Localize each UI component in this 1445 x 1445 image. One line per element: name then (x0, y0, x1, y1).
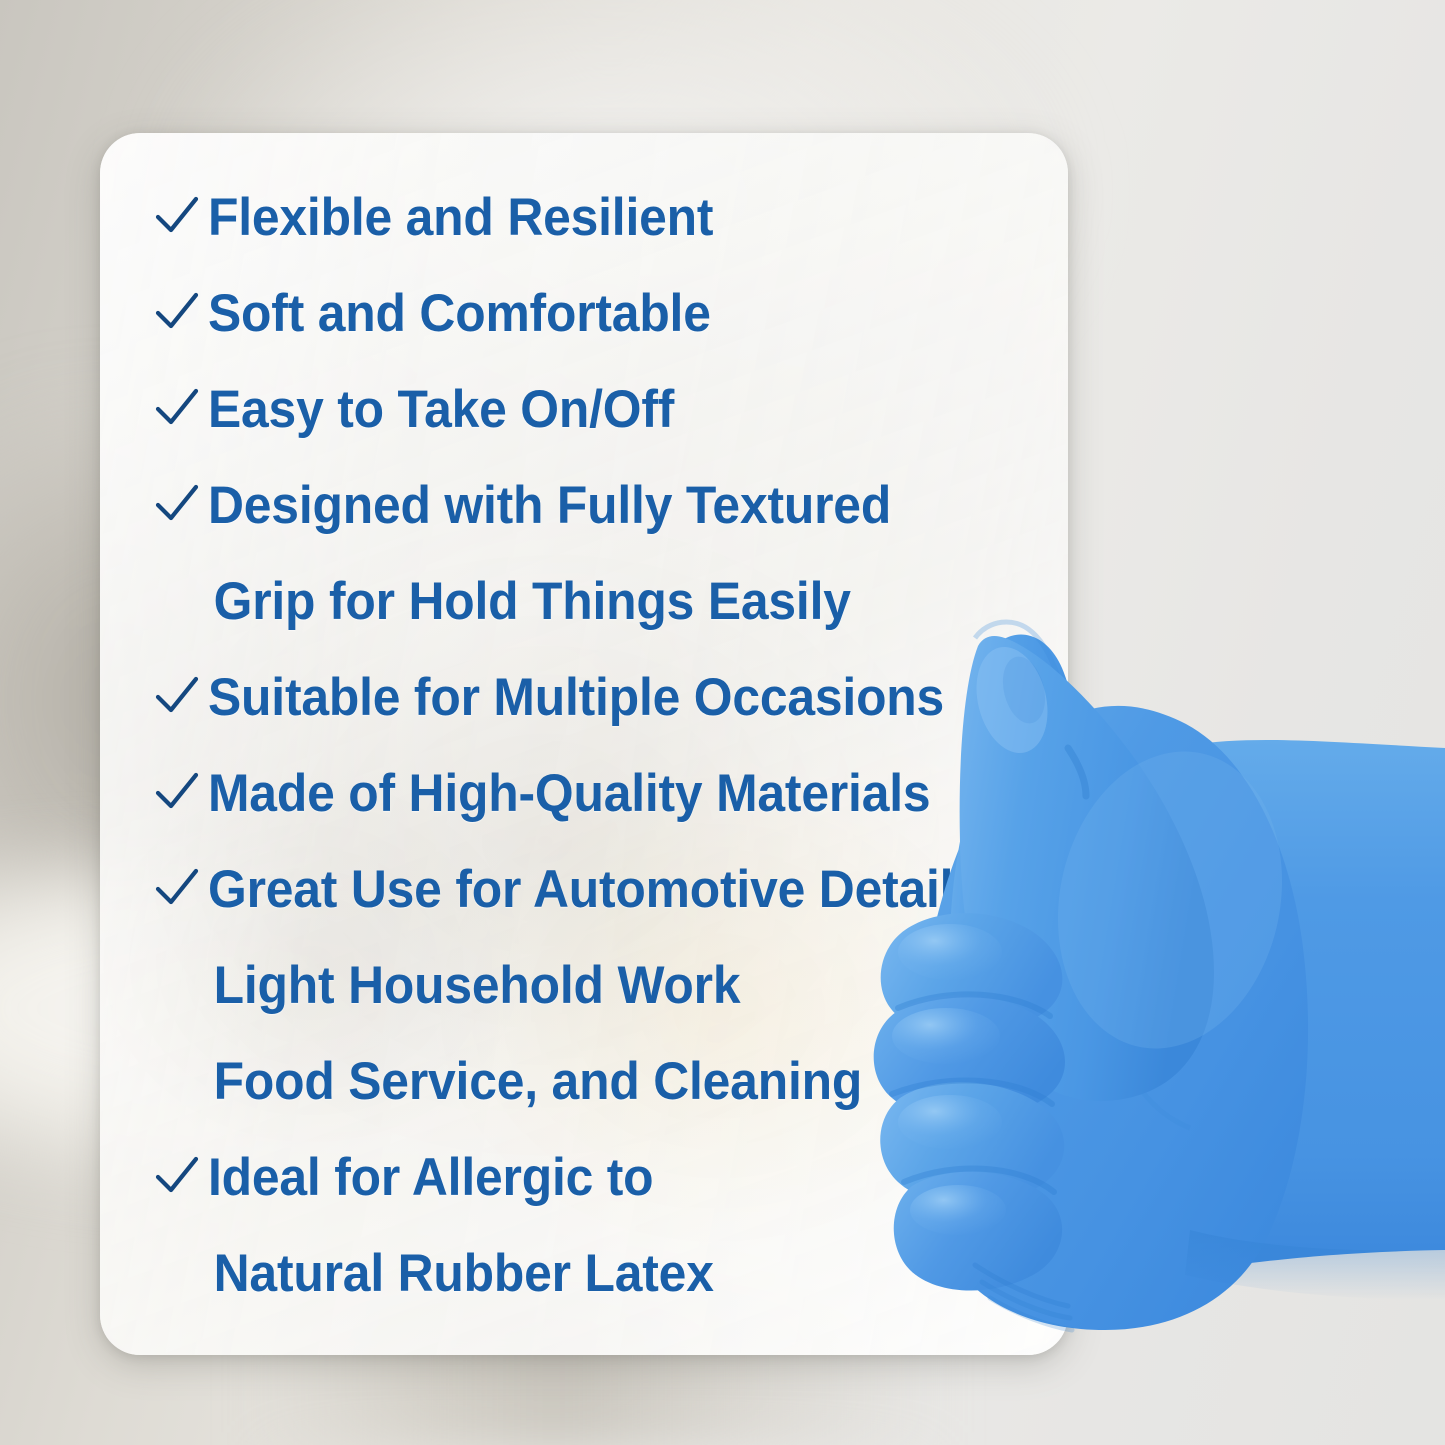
check-icon (146, 385, 208, 433)
check-icon (146, 865, 208, 913)
check-icon (146, 673, 208, 721)
feature-label: Soft and Comfortable (208, 287, 711, 340)
feature-item: Easy to Take On/Off (146, 361, 1068, 457)
feature-label: Food Service, and Cleaning (208, 1055, 862, 1108)
feature-label: Great Use for Automotive Detailing (208, 863, 1027, 916)
feature-item: Great Use for Automotive Detailing (146, 841, 1068, 937)
check-icon (146, 481, 208, 529)
feature-item: Light Household Work (146, 937, 1068, 1033)
check-icon (146, 193, 208, 241)
feature-item: Designed with Fully Textured (146, 457, 1068, 553)
feature-label: Easy to Take On/Off (208, 383, 674, 436)
check-icon (146, 1153, 208, 1201)
feature-list: Flexible and ResilientSoft and Comfortab… (146, 169, 1068, 1355)
feature-label: Ideal for Allergic to (208, 1151, 653, 1204)
feature-label: Flexible and Resilient (208, 191, 713, 244)
feature-item: Natural Rubber Latex (146, 1225, 1068, 1321)
check-icon (146, 289, 208, 337)
feature-item: Grip for Hold Things Easily (146, 553, 1068, 649)
check-icon-placeholder (146, 1249, 208, 1297)
feature-item: Made of High-Quality Materials (146, 745, 1068, 841)
feature-label: Designed with Fully Textured (208, 479, 891, 532)
feature-label: Made of High-Quality Materials (208, 767, 930, 820)
feature-item: Ideal for Allergic to (146, 1129, 1068, 1225)
feature-label: Natural Rubber Latex (208, 1247, 714, 1300)
check-icon-placeholder (146, 1057, 208, 1105)
check-icon (146, 769, 208, 817)
check-icon-placeholder (146, 961, 208, 1009)
feature-item: Flexible and Resilient (146, 169, 1068, 265)
feature-item: Soft and Comfortable (146, 265, 1068, 361)
feature-item: Food Service, and Cleaning (146, 1033, 1068, 1129)
feature-card: Flexible and ResilientSoft and Comfortab… (100, 133, 1068, 1355)
feature-label: Suitable for Multiple Occasions (208, 671, 944, 724)
feature-item: Suitable for Multiple Occasions (146, 649, 1068, 745)
feature-label: Light Household Work (208, 959, 740, 1012)
check-icon-placeholder (146, 577, 208, 625)
product-infographic: Flexible and ResilientSoft and Comfortab… (0, 0, 1445, 1445)
feature-label: Grip for Hold Things Easily (208, 575, 851, 628)
